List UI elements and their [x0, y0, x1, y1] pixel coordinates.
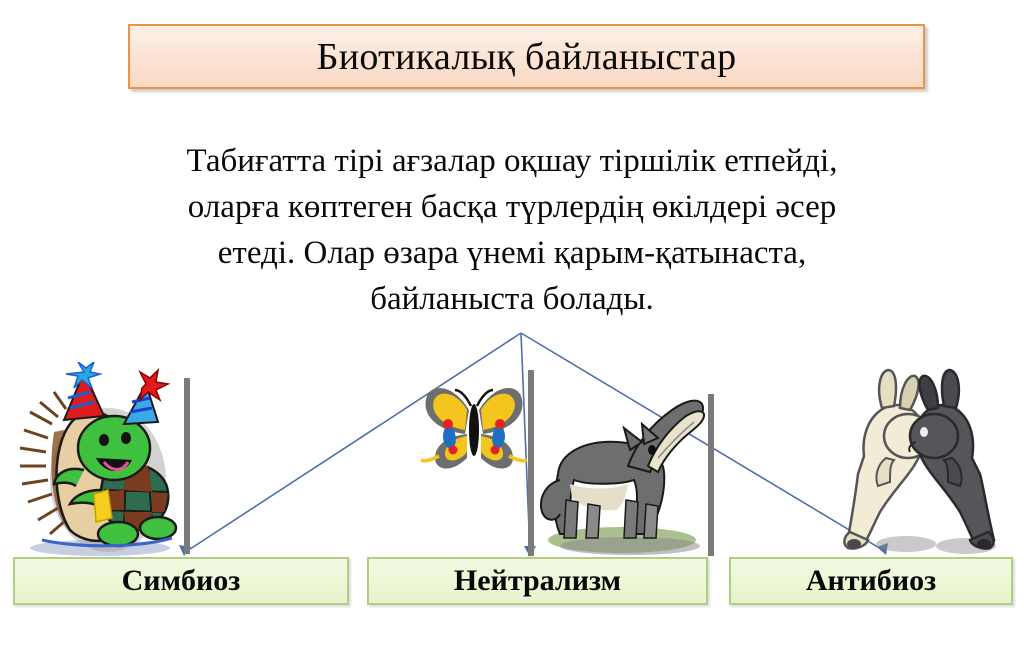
hedgehog-turtle-illustration	[8, 362, 188, 558]
category-label-antibiosis: Антибиоз	[806, 564, 936, 598]
page-title: Биотикалық байланыстар	[317, 35, 737, 79]
category-label-neutralism: Нейтрализм	[454, 564, 621, 598]
body-line-3: етеді. Олар өзара үнемі қарым-қатынаста,	[70, 230, 954, 276]
slide-canvas: Биотикалық байланыстар Табиғатта тірі ағ…	[0, 0, 1024, 650]
body-line-2: оларға көптеген басқа түрлердің өкілдері…	[70, 184, 954, 230]
divider-bar-3	[708, 394, 714, 556]
category-box-neutralism[interactable]: Нейтрализм	[367, 557, 708, 605]
category-box-symbiosis[interactable]: Симбиоз	[13, 557, 349, 605]
body-line-4: байланыста болады.	[70, 276, 954, 322]
rabbits-fighting-illustration	[820, 366, 1016, 558]
body-paragraph: Табиғатта тірі ағзалар оқшау тіршілік ет…	[70, 138, 954, 322]
butterfly-illustration	[415, 378, 533, 486]
slide-title-banner: Биотикалық байланыстар	[128, 24, 925, 89]
body-line-1: Табиғатта тірі ағзалар оқшау тіршілік ет…	[70, 138, 954, 184]
category-label-symbiosis: Симбиоз	[122, 564, 241, 598]
category-box-antibiosis[interactable]: Антибиоз	[729, 557, 1013, 605]
wolf-illustration	[530, 388, 708, 556]
